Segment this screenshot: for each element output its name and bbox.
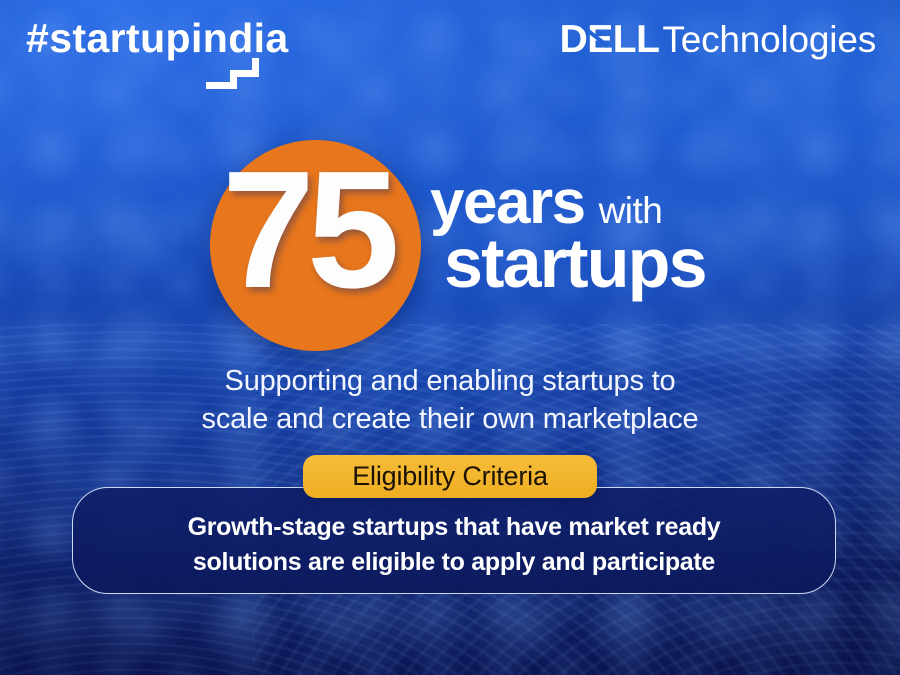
startups-label: startups bbox=[444, 228, 706, 298]
anniversary-number: 75 bbox=[222, 147, 392, 314]
subtitle-line-1: Supporting and enabling startups to bbox=[0, 362, 900, 400]
eligibility-body-line-2: solutions are eligible to apply and part… bbox=[188, 545, 721, 580]
eligibility-card: Growth-stage startups that have market r… bbox=[72, 487, 836, 594]
eligibility-criteria-label: Eligibility Criteria bbox=[352, 463, 548, 490]
eligibility-body-line-1: Growth-stage startups that have market r… bbox=[188, 510, 721, 545]
poster-canvas: #startupindia D E LL Technologies 75 yea… bbox=[0, 0, 900, 675]
hero-section: 75 years with startups bbox=[0, 0, 900, 360]
eligibility-body: Growth-stage startups that have market r… bbox=[188, 502, 721, 579]
eligibility-criteria-badge: Eligibility Criteria bbox=[303, 455, 597, 498]
subtitle-block: Supporting and enabling startups to scal… bbox=[0, 362, 900, 439]
subtitle-line-2: scale and create their own marketplace bbox=[0, 400, 900, 438]
